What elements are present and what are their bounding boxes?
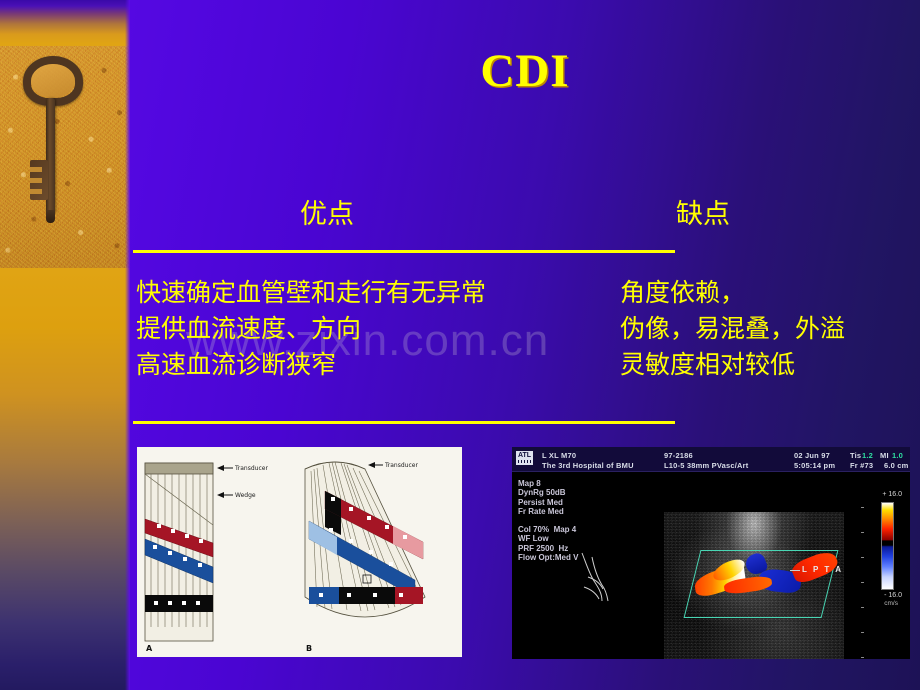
key-icon-bow-hole <box>31 64 75 98</box>
list-item: 灵敏度相对较低 <box>620 347 845 383</box>
list-item: 快速确定血管壁和走行有无异常 <box>136 275 486 311</box>
svg-text:Transducer: Transducer <box>384 462 418 469</box>
atl-logo-icon: ATL <box>516 451 533 465</box>
advantages-list: 快速确定血管壁和走行有无异常 提供血流速度、方向 高速血流诊断狭窄 <box>136 275 486 383</box>
disadvantages-list: 角度依赖， 伪像，易混叠，外溢 灵敏度相对较低 <box>620 275 845 383</box>
velocity-scale-max: + 16.0 <box>882 491 902 498</box>
color-parameters: Col 70% Map 4 WF Low PRF 2500 Hz Flow Op… <box>518 525 578 563</box>
decorative-side-band <box>0 0 130 690</box>
svg-text:Wedge: Wedge <box>235 492 256 499</box>
divider-bottom <box>133 421 675 424</box>
exam-time-label: 5:05:14 pm <box>794 461 835 470</box>
exam-date-label: 02 Jun 97 <box>794 451 830 460</box>
key-icon-tip <box>46 210 55 223</box>
frame-number: Fr #73 <box>850 461 873 470</box>
ultrasound-cdi-image: ATL L XL M70 The 3rd Hospital of BMU 97-… <box>512 447 910 659</box>
band-edge-fade <box>125 0 130 690</box>
svg-text:A: A <box>146 644 153 653</box>
velocity-color-bar <box>881 502 894 590</box>
tis-label: Tis <box>850 451 861 460</box>
depth-label: 6.0 cm <box>884 461 909 470</box>
bmode-parameters: Map 8 DynRg 50dB Persist Med Fr Rate Med <box>518 479 566 517</box>
divider-top <box>133 250 675 253</box>
body-marker-icon <box>572 547 632 607</box>
list-item: 角度依赖， <box>620 275 845 311</box>
slide: CDI 优点 缺点 www.zixin.com.cn 快速确定血管壁和走行有无异… <box>0 0 920 690</box>
mi-value: 1.0 <box>892 451 903 460</box>
depth-tick-marks <box>860 507 864 657</box>
advantages-header: 优点 <box>300 192 354 231</box>
svg-text:B: B <box>306 644 312 653</box>
list-item: 伪像，易混叠，外溢 <box>620 311 845 347</box>
probe-label: L10-5 38mm PVasc/Art <box>664 461 748 470</box>
machine-label: L XL M70 <box>542 451 576 460</box>
list-item: 提供血流速度、方向 <box>136 311 486 347</box>
svg-text:Transducer: Transducer <box>234 465 268 472</box>
bmode-grayscale-region <box>664 512 844 659</box>
disadvantages-header: 缺点 <box>676 192 730 231</box>
exam-id-label: 97-2186 <box>664 451 693 460</box>
hospital-label: The 3rd Hospital of BMU <box>542 461 634 470</box>
list-item: 高速血流诊断狭窄 <box>136 347 486 383</box>
tis-value: 1.2 <box>862 451 873 460</box>
velocity-scale-unit: cm/s <box>884 600 898 607</box>
band-gradient-bottom <box>0 268 130 690</box>
vessel-label: L P T A <box>802 565 843 574</box>
page-title: CDI <box>130 44 920 98</box>
mi-label: MI <box>880 451 889 460</box>
doppler-angle-diagram: A Transducer Wedge <box>137 447 462 657</box>
velocity-scale-min: - 16.0 <box>884 592 902 599</box>
key-icon-bit <box>30 160 48 200</box>
